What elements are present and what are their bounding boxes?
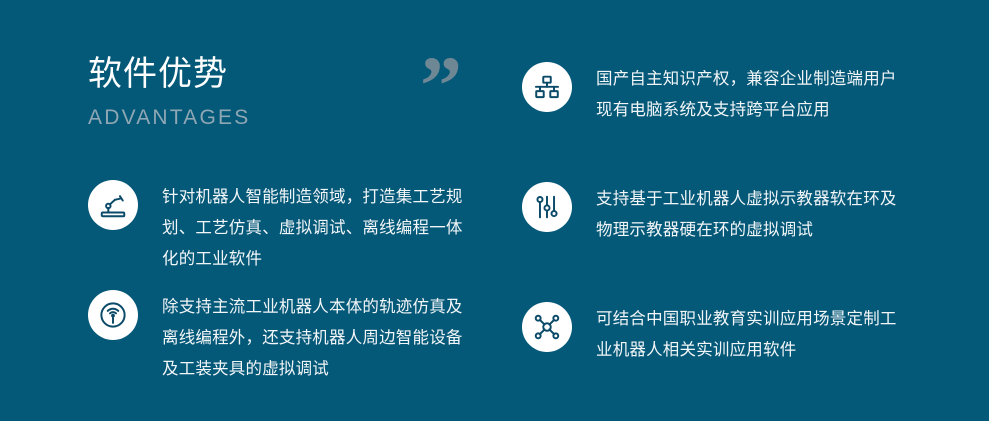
robot-arm-icon [88, 180, 138, 230]
feature-text: 国产自主知识产权，兼容企业制造端用户现有电脑系统及支持跨平台应用 [596, 62, 906, 126]
network-nodes-icon [522, 302, 572, 352]
feature-item-left-2: 除支持主流工业机器人本体的轨迹仿真及离线编程外，还支持机器人周边智能设备及工装夹… [88, 290, 508, 385]
page-subtitle: ADVANTAGES [88, 104, 468, 132]
feature-text: 除支持主流工业机器人本体的轨迹仿真及离线编程外，还支持机器人周边智能设备及工装夹… [162, 290, 478, 385]
heading-block: 软件优势 ADVANTAGES [88, 52, 468, 132]
feature-text: 可结合中国职业教育实训应用场景定制工业机器人相关实训应用软件 [596, 302, 906, 366]
signal-broadcast-icon [88, 290, 138, 340]
feature-text: 针对机器人智能制造领域，打造集工艺规划、工艺仿真、虚拟调试、离线编程一体化的工业… [162, 180, 478, 275]
feature-item-right-1: 国产自主知识产权，兼容企业制造端用户现有电脑系统及支持跨平台应用 [522, 62, 942, 126]
feature-item-right-2: 支持基于工业机器人虚拟示教器软在环及物理示教器硬在环的虚拟调试 [522, 182, 942, 246]
quote-mark-icon: ” [420, 45, 462, 129]
feature-text: 支持基于工业机器人虚拟示教器软在环及物理示教器硬在环的虚拟调试 [596, 182, 906, 246]
feature-item-right-3: 可结合中国职业教育实训应用场景定制工业机器人相关实训应用软件 [522, 302, 942, 366]
feature-item-left-1: 针对机器人智能制造领域，打造集工艺规划、工艺仿真、虚拟调试、离线编程一体化的工业… [88, 180, 508, 275]
sitemap-hierarchy-icon [522, 62, 572, 112]
sliders-settings-icon [522, 182, 572, 232]
advantages-banner: 软件优势 ADVANTAGES ” 针对机器人智能制造领域，打造集工艺规划、工艺… [0, 0, 989, 421]
page-title: 软件优势 [88, 52, 468, 96]
